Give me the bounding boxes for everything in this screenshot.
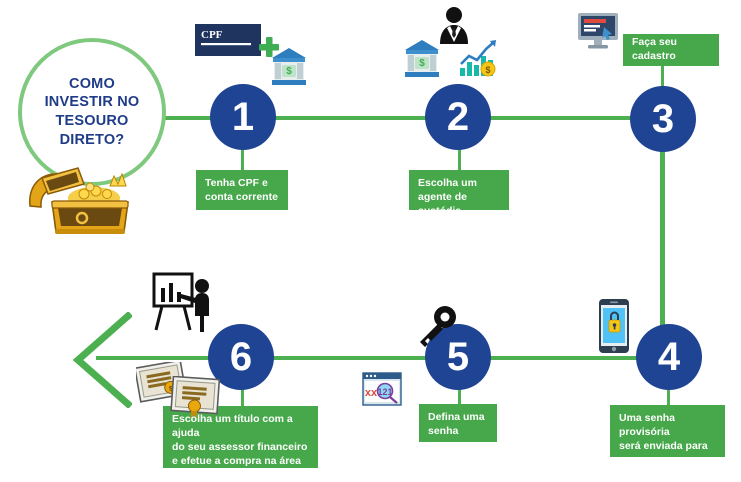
step-6-caption-line-4: restrita: [172, 468, 309, 482]
page-title: COMO INVESTIR NO TESOURO DIRETO?: [45, 75, 140, 149]
presenter-chart-icon: [152, 272, 218, 334]
step-3-caption-line-1: Faça seu cadastro: [632, 36, 710, 64]
title-line-4: DIRETO?: [45, 131, 140, 150]
step-2-number: 2: [447, 97, 469, 137]
stem-step2: [458, 148, 461, 170]
title-line-3: TESOURO: [45, 112, 140, 131]
step-4-number: 4: [658, 337, 680, 377]
step-2-caption-line-1: Escolha um: [418, 177, 500, 191]
step-5-caption-box: Defina uma senha: [419, 404, 497, 442]
svg-text:121: 121: [377, 387, 392, 397]
step-5-caption-line-2: senha: [428, 425, 488, 439]
stem-step1: [241, 148, 244, 170]
step-1-caption-box: Tenha CPF e conta corrente: [196, 170, 288, 210]
step-3-circle[interactable]: 3: [630, 86, 696, 152]
svg-text:$: $: [419, 58, 425, 69]
step-4-caption-line-3: e-mail: [619, 467, 716, 481]
stem-step6: [241, 388, 244, 406]
treasure-chest-icon: [22, 158, 140, 238]
step-2-circle[interactable]: 2: [425, 84, 491, 150]
stem-step5: [458, 388, 461, 404]
svg-text:CPF: CPF: [201, 29, 223, 41]
infographic-canvas: COMO INVESTIR NO TESOURO DIRETO?: [0, 0, 741, 478]
step-2-caption-line-2: agente de custódia: [418, 191, 500, 219]
step-5-caption-line-1: Defina uma: [428, 411, 488, 425]
key-icon: [414, 304, 460, 350]
certificate-icon-2: [170, 376, 220, 420]
step-3-caption-box: Faça seu cadastro: [623, 34, 719, 66]
growth-chart-icon: $: [458, 38, 500, 78]
desktop-monitor-icon: [577, 12, 619, 50]
step-1-circle[interactable]: 1: [210, 84, 276, 150]
password-search-icon: xx 121: [362, 372, 402, 406]
step-6-caption-line-3: e efetue a compra na área: [172, 455, 309, 469]
step-4-caption-line-2: será enviada para o seu: [619, 440, 716, 468]
step-4-caption-box: Uma senha provisória será enviada para o…: [610, 405, 725, 457]
step-4-caption-line-1: Uma senha provisória: [619, 412, 716, 440]
step-3-number: 3: [652, 99, 674, 139]
step-6-caption-line-2: do seu assessor financeiro: [172, 441, 309, 455]
bank-icon-2: $: [403, 38, 441, 78]
smartphone-lock-icon: [598, 298, 630, 354]
title-line-2: INVESTIR NO: [45, 93, 140, 112]
cpf-card-icon: CPF: [195, 24, 261, 56]
step-1-caption-line-1: Tenha CPF e: [205, 177, 279, 191]
step-1-caption-line-2: conta corrente: [205, 191, 279, 205]
step-4-circle[interactable]: 4: [636, 324, 702, 390]
step-6-number: 6: [230, 337, 252, 377]
stem-step4: [667, 388, 670, 406]
step-2-caption-box: Escolha um agente de custódia: [409, 170, 509, 210]
svg-text:$: $: [286, 66, 292, 77]
bank-icon: $: [270, 46, 308, 86]
left-arrow-icon: [72, 312, 132, 408]
title-line-1: COMO: [45, 75, 140, 94]
step-1-number: 1: [232, 97, 254, 137]
svg-text:xx: xx: [365, 387, 378, 399]
svg-text:$: $: [485, 65, 490, 75]
stem-step3: [661, 64, 664, 88]
